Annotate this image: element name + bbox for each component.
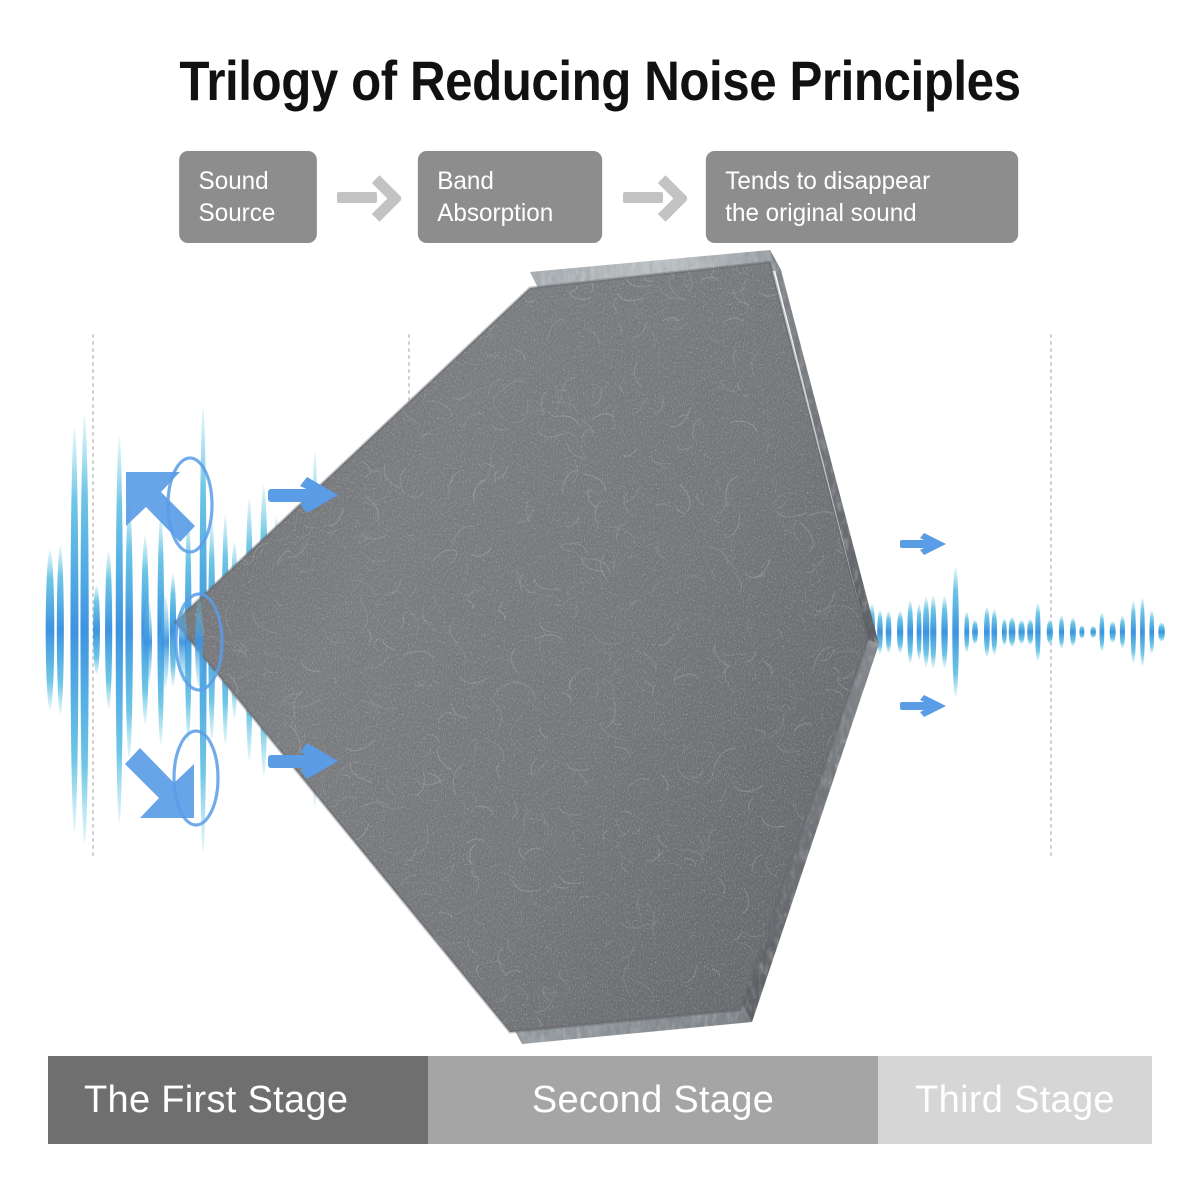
acoustic-panel-illustration [0, 250, 1200, 1050]
stage-segment-second[interactable]: Second Stage [428, 1056, 878, 1144]
stage-segment-third[interactable]: Third Stage [878, 1056, 1152, 1144]
stage-progress-bar: The First Stage Second Stage Third Stage [48, 1056, 1152, 1144]
outgoing-arrow-top [900, 533, 946, 555]
stage-segment-first[interactable]: The First Stage [48, 1056, 428, 1144]
right-arrow-icon-1 [319, 177, 415, 217]
hexagonal-acoustic-panel [131, 250, 908, 1050]
flow-step-sound-source[interactable]: Sound Source [179, 151, 317, 243]
right-arrow-icon-2 [605, 177, 701, 217]
flow-step-tends-to-disappear[interactable]: Tends to disappear the original sound [706, 151, 1018, 243]
outgoing-arrow-bottom [900, 695, 946, 717]
page-title: Trilogy of Reducing Noise Principles [72, 48, 1128, 113]
process-flow: Sound Source Band Absorption Tends to di… [0, 148, 1200, 246]
absorption-arrow-up-left [126, 458, 212, 552]
arrow-head [642, 175, 689, 222]
attenuated-sound-wave [869, 566, 1165, 697]
infographic-canvas: Trilogy of Reducing Noise Principles Sou… [0, 0, 1200, 1200]
flow-step-band-absorption[interactable]: Band Absorption [418, 151, 602, 243]
arrow-head [356, 175, 403, 222]
